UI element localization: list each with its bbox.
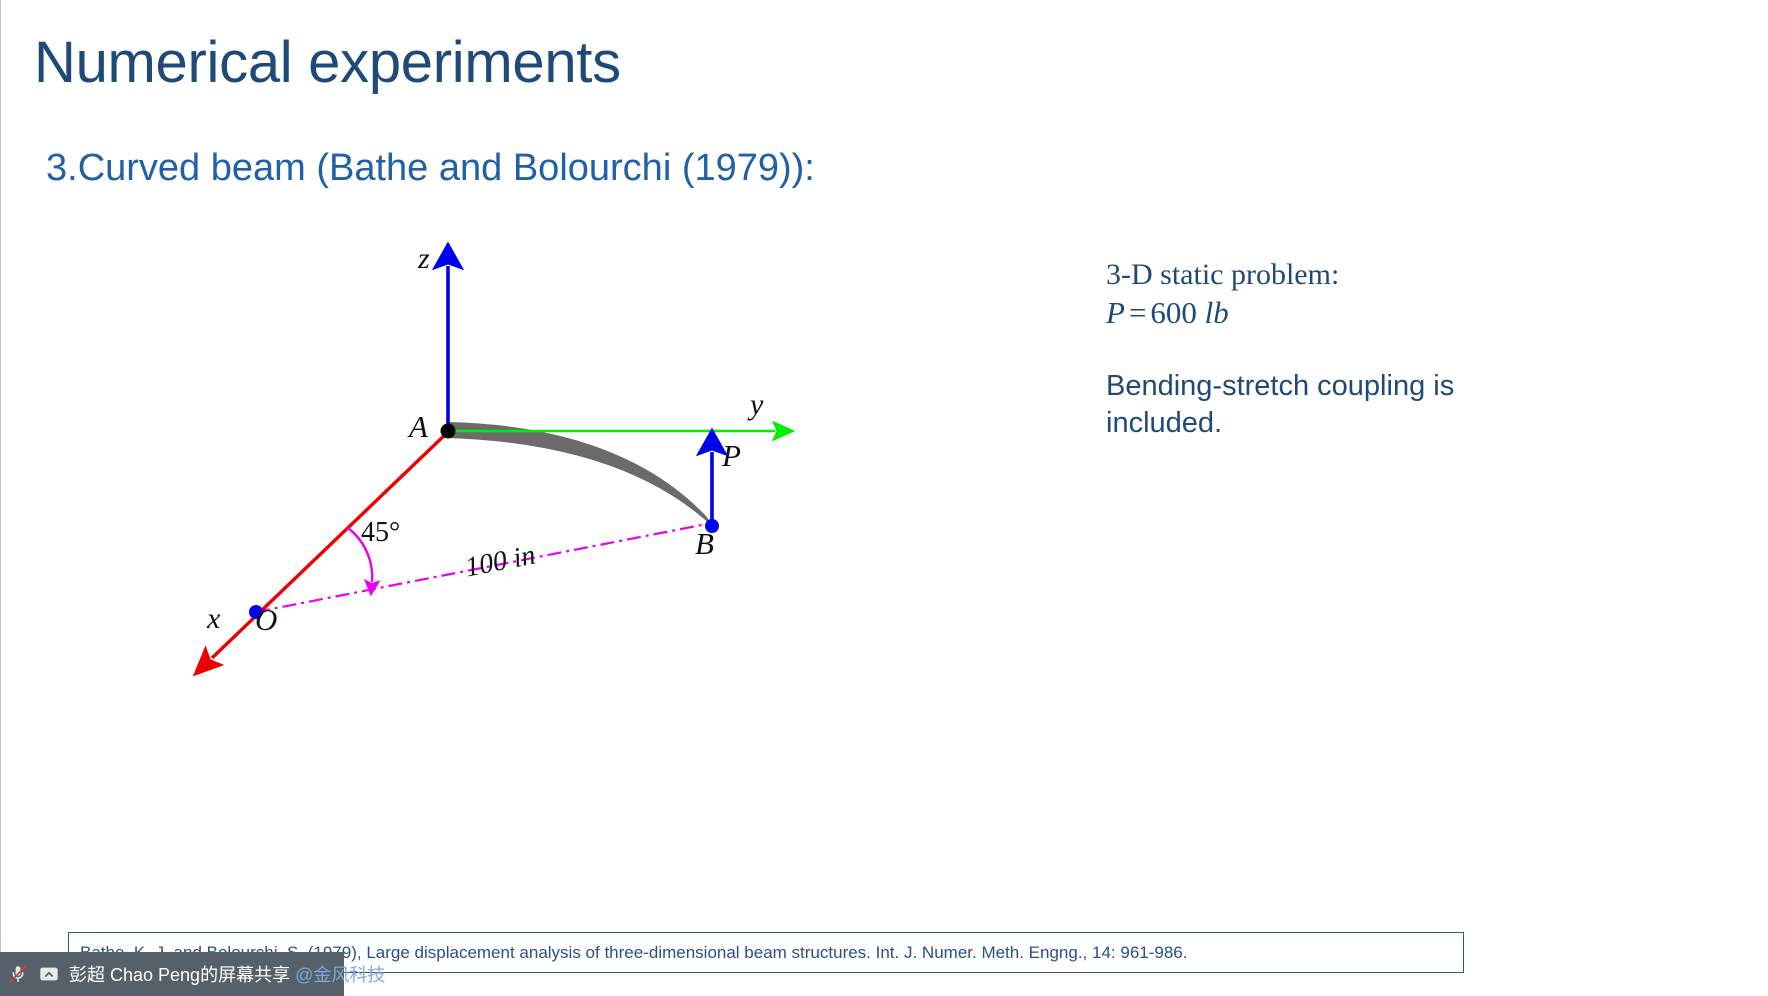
angle-label-45: 45° <box>361 519 400 547</box>
screen-share-bar[interactable]: 彭超 Chao Peng的屏幕共享 @金风科技 <box>0 952 344 996</box>
point-A-marker <box>441 424 456 439</box>
equals-sign: = <box>1125 295 1150 330</box>
load-value: 600 <box>1150 295 1197 330</box>
screen-share-icon[interactable] <box>38 963 60 985</box>
share-handle: @金风科技 <box>295 965 385 985</box>
static-problem-label: 3-D static problem: <box>1106 258 1339 292</box>
slide-canvas: Numerical experiments 3.Curved beam (Bat… <box>0 0 1768 996</box>
load-label-P: P <box>722 440 741 471</box>
share-owner: 彭超 Chao Peng的屏幕共享 <box>69 965 295 985</box>
curved-beam <box>448 422 716 530</box>
point-B-label: B <box>695 528 714 559</box>
curved-beam-figure: z y x A B O P 45° 100 in <box>150 230 870 680</box>
z-axis-label: z <box>418 244 430 274</box>
y-axis-label: y <box>750 390 763 420</box>
section-subtitle: 3.Curved beam (Bathe and Bolourchi (1979… <box>46 147 815 190</box>
coupling-note: Bending-stretch coupling is included. <box>1106 368 1506 442</box>
load-equation: P=600 lb <box>1106 295 1229 331</box>
load-symbol: P <box>1106 295 1125 330</box>
mic-muted-icon[interactable] <box>7 963 29 985</box>
x-axis-line <box>212 432 448 658</box>
point-O-label: O <box>255 604 277 635</box>
x-axis-label: x <box>207 604 220 634</box>
page-title: Numerical experiments <box>34 33 621 94</box>
point-A-label: A <box>409 411 428 442</box>
load-unit: lb <box>1205 295 1229 330</box>
share-bar-label: 彭超 Chao Peng的屏幕共享 @金风科技 <box>69 961 385 987</box>
